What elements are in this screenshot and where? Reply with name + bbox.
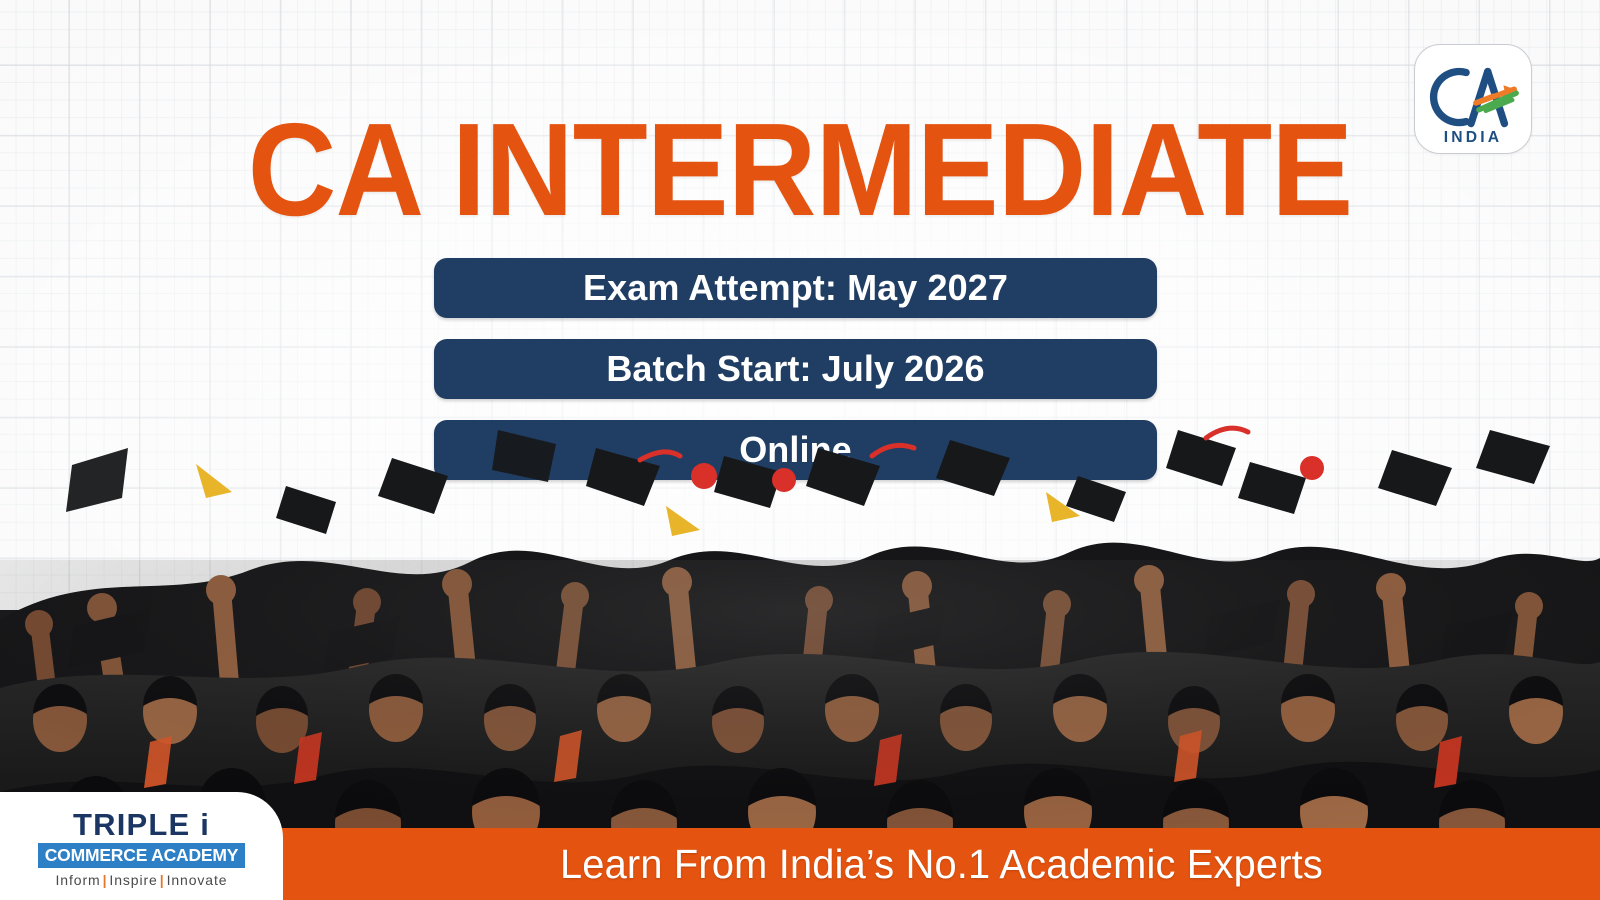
footer-tagline: Learn From India’s No.1 Academic Experts [303, 828, 1580, 900]
tagline-word-inspire: Inspire [109, 872, 157, 888]
academy-logo-subtitle: COMMERCE ACADEMY [38, 843, 246, 868]
tagline-word-innovate: Innovate [167, 872, 228, 888]
tagline-word-inform: Inform [56, 872, 101, 888]
badge-exam-attempt: Exam Attempt: May 2027 [434, 258, 1157, 318]
page-title: CA INTERMEDIATE [56, 104, 1544, 236]
ca-intermediate-promo-banner: INDIA CA INTERMEDIATE Exam Attempt: May … [0, 0, 1600, 900]
tagline-separator-2: | [158, 872, 167, 888]
academy-logo-name: TRIPLE i [73, 809, 210, 840]
academy-logo-tagline: Inform|Inspire|Innovate [56, 873, 228, 887]
badge-batch-start: Batch Start: July 2026 [434, 339, 1157, 399]
academy-logo-panel: TRIPLE i COMMERCE ACADEMY Inform|Inspire… [0, 792, 283, 900]
